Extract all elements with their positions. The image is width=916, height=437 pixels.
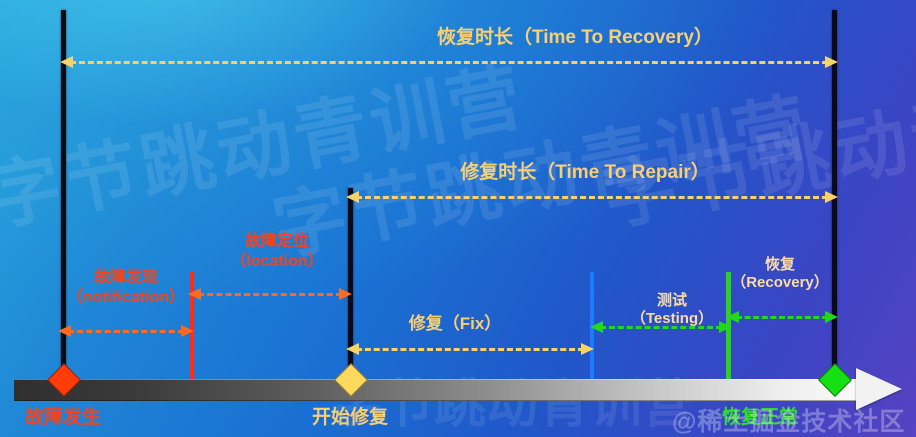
dashed-line (198, 293, 342, 296)
arrow-right-icon (181, 325, 194, 337)
arrow-right-icon (339, 288, 352, 300)
arrow-right-icon (825, 56, 838, 68)
dashed-line (356, 348, 584, 351)
measure-notification (58, 325, 194, 337)
label-location: 故障定位 （location） (230, 232, 323, 271)
label-fix: 修复（Fix） (409, 314, 502, 335)
measure-time-to-recovery (60, 56, 838, 68)
axis-label-repair-started: 开始修复 (312, 406, 388, 429)
watermark: 字节跳动青训营 (0, 37, 533, 246)
dashed-line (736, 316, 828, 319)
measure-fix (346, 343, 594, 355)
dashed-line (68, 330, 184, 333)
label-notification-en: （notification） (67, 288, 185, 308)
arrow-right-icon (581, 343, 594, 355)
label-time-to-recovery: 恢复时长（Time To Recovery） (437, 26, 713, 49)
timeline-axis (14, 379, 862, 401)
label-location-cn: 故障定位 (230, 232, 323, 252)
label-location-en: （location） (230, 252, 323, 272)
dashed-line (70, 61, 828, 64)
dashed-line (600, 326, 722, 329)
label-notification: 故障发现 （notification） (67, 268, 185, 307)
incident-timeline-diagram: 字节跳动青训营 字节跳动青训营 字节跳动青训营 字节跳动青训营 恢复时长（Tim… (0, 0, 916, 437)
measure-time-to-repair (346, 191, 838, 203)
measure-testing (590, 321, 732, 333)
label-time-to-repair: 修复时长（Time To Repair） (460, 161, 710, 184)
measure-recovery (726, 311, 838, 323)
measure-location (188, 288, 352, 300)
watermark-community: @稀土掘金技术社区 (672, 402, 905, 437)
arrow-right-icon (825, 311, 838, 323)
label-recovery-en: （Recovery） (731, 274, 829, 292)
label-notification-cn: 故障发现 (67, 268, 185, 288)
label-recovery: 恢复 （Recovery） (731, 256, 829, 293)
axis-label-fault-occurred: 故障发生 (25, 406, 101, 429)
watermark: 字节跳动青训营 (593, 37, 916, 246)
label-recovery-cn: 恢复 (731, 256, 829, 274)
arrow-right-icon (825, 191, 838, 203)
dashed-line (356, 196, 828, 199)
label-testing-cn: 测试 (631, 292, 713, 310)
